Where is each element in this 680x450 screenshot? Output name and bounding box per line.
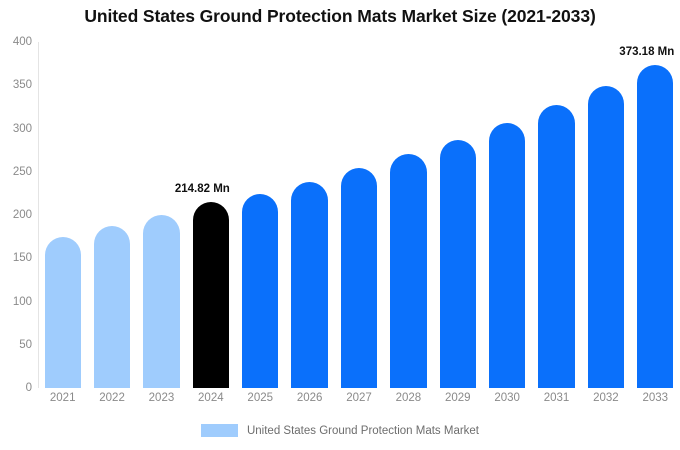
y-axis-tick: 50	[0, 339, 32, 351]
x-axis-tick: 2024	[186, 392, 235, 404]
bar[interactable]	[143, 215, 179, 388]
y-axis-tick: 250	[0, 166, 32, 178]
x-axis-tick: 2027	[334, 392, 383, 404]
bar[interactable]	[390, 154, 426, 388]
bar[interactable]	[440, 140, 476, 388]
bar[interactable]	[193, 202, 229, 388]
bar[interactable]	[94, 226, 130, 388]
bar[interactable]	[489, 123, 525, 388]
data-label: 214.82 Mn	[175, 183, 230, 195]
y-axis-line	[38, 42, 39, 388]
y-axis-tick: 400	[0, 36, 32, 48]
data-label: 373.18 Mn	[619, 46, 674, 58]
chart-container: United States Ground Protection Mats Mar…	[0, 0, 680, 450]
x-axis-tick: 2031	[532, 392, 581, 404]
bar[interactable]	[242, 194, 278, 388]
y-axis-tick: 300	[0, 123, 32, 135]
x-axis-tick: 2029	[433, 392, 482, 404]
bar[interactable]	[45, 237, 81, 388]
x-axis-tick: 2030	[482, 392, 531, 404]
x-axis-tick: 2021	[38, 392, 87, 404]
bar[interactable]	[291, 182, 327, 388]
y-axis-tick: 100	[0, 296, 32, 308]
bar[interactable]	[341, 168, 377, 388]
bar[interactable]	[538, 105, 574, 388]
y-axis-tick: 0	[0, 382, 32, 394]
x-axis-tick: 2025	[236, 392, 285, 404]
x-axis-tick: 2033	[631, 392, 680, 404]
x-axis-tick: 2028	[384, 392, 433, 404]
x-axis-tick: 2032	[581, 392, 630, 404]
bar[interactable]	[588, 86, 624, 388]
legend-item-label: United States Ground Protection Mats Mar…	[247, 425, 479, 437]
y-axis-tick: 150	[0, 252, 32, 264]
chart-legend: United States Ground Protection Mats Mar…	[0, 424, 680, 437]
legend-swatch-icon	[201, 424, 238, 437]
x-axis-tick: 2023	[137, 392, 186, 404]
x-axis-tick: 2022	[87, 392, 136, 404]
x-axis-tick: 2026	[285, 392, 334, 404]
plot-area: 050100150200250300350400 202120222023202…	[38, 42, 680, 388]
y-axis-tick: 350	[0, 79, 32, 91]
chart-title: United States Ground Protection Mats Mar…	[0, 6, 680, 27]
y-axis-tick: 200	[0, 209, 32, 221]
bar[interactable]	[637, 65, 673, 388]
